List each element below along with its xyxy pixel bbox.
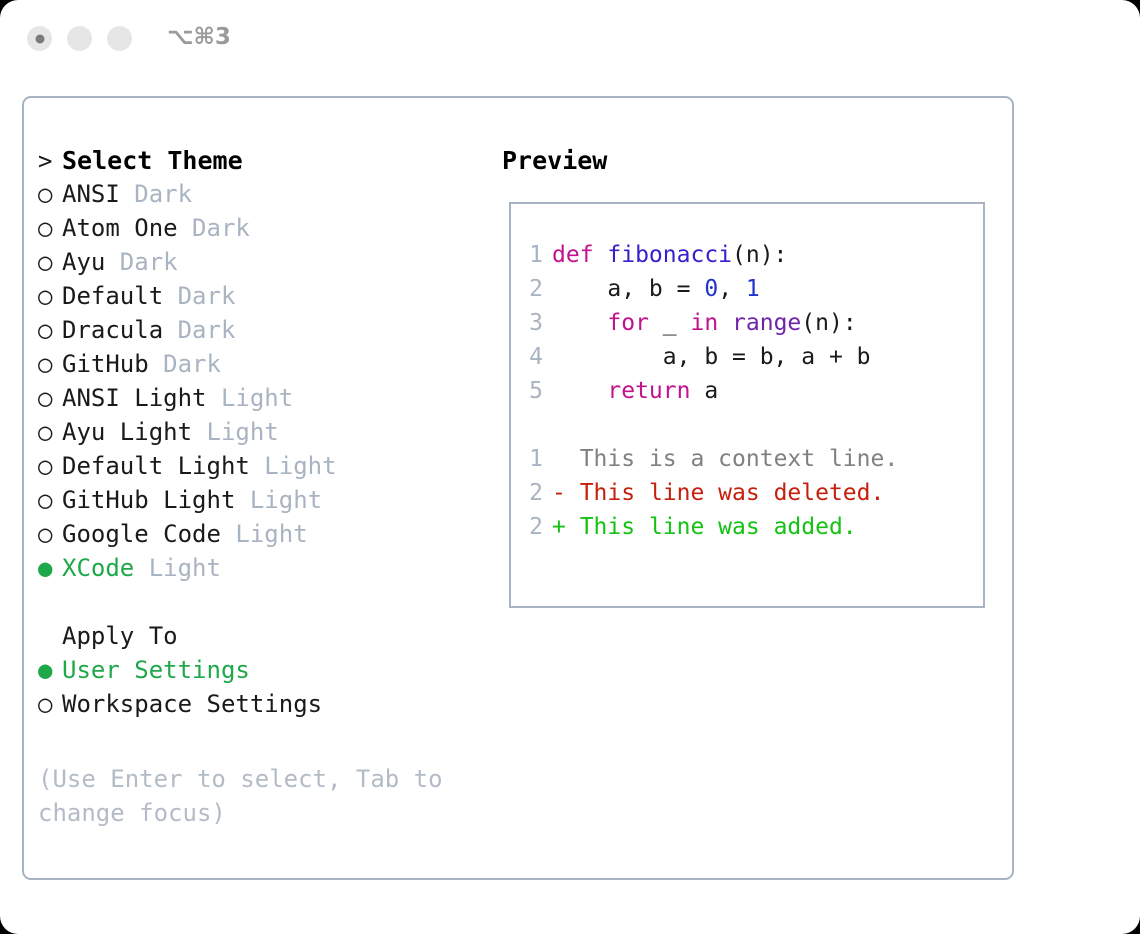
code-token: a <box>690 378 718 404</box>
theme-name: GitHub <box>62 350 149 378</box>
code-token <box>552 378 607 404</box>
theme-name: Google Code <box>62 520 221 548</box>
theme-variant-tag: Light <box>221 520 308 548</box>
diff-text: This line was deleted. <box>566 480 885 506</box>
theme-name: ANSI Light <box>62 384 207 412</box>
heading-prompt-icon: > <box>38 147 62 175</box>
diff-sign: + <box>552 514 566 540</box>
section-spacer <box>38 588 488 622</box>
theme-list-item[interactable]: ○Google Code Light <box>38 520 488 554</box>
theme-name: Default Light <box>62 452 250 480</box>
diff-sample: 1 This is a context line.2- This line wa… <box>517 446 979 548</box>
code-diff-spacer <box>517 412 979 446</box>
diff-sign <box>552 446 566 472</box>
code-token: in <box>690 310 718 336</box>
theme-list: ○ANSI Dark○Atom One Dark○Ayu Dark○Defaul… <box>38 180 488 588</box>
diff-line: 2+ This line was added. <box>517 514 979 548</box>
code-token: (n): <box>801 310 856 336</box>
code-token <box>552 310 607 336</box>
radio-unselected-icon: ○ <box>38 248 62 276</box>
code-token: 0 <box>704 276 718 302</box>
apply-to-heading: ○Apply To <box>38 622 488 656</box>
code-token: , <box>718 276 746 302</box>
diff-line: 2- This line was deleted. <box>517 480 979 514</box>
zoom-button[interactable] <box>107 26 132 51</box>
code-sample: 1def fibonacci(n):2 a, b = 0, 13 for _ i… <box>517 242 979 412</box>
main-panel: >Select Theme ○ANSI Dark○Atom One Dark○A… <box>22 96 1014 880</box>
radio-unselected-icon: ○ <box>38 350 62 378</box>
theme-list-item[interactable]: ○Atom One Dark <box>38 214 488 248</box>
select-theme-heading: >Select Theme <box>38 146 488 180</box>
radio-unselected-icon: ○ <box>38 690 62 718</box>
minimize-button[interactable] <box>67 26 92 51</box>
select-theme-heading-label: Select Theme <box>62 146 243 175</box>
radio-selected-icon: ● <box>38 554 62 582</box>
line-number: 2 <box>517 480 543 506</box>
line-number: 5 <box>517 378 543 404</box>
close-dot-icon <box>35 34 44 43</box>
keyboard-shortcut-label: ⌥⌘3 <box>167 24 231 50</box>
close-button[interactable] <box>27 26 52 51</box>
radio-unselected-icon: ○ <box>38 180 62 208</box>
radio-unselected-icon: ○ <box>38 384 62 412</box>
code-token: a, b = <box>552 276 704 302</box>
theme-variant-tag: Light <box>207 384 294 412</box>
theme-selector: >Select Theme ○ANSI Dark○Atom One Dark○A… <box>38 146 488 724</box>
theme-list-item[interactable]: ○GitHub Dark <box>38 350 488 384</box>
theme-variant-tag: Light <box>235 486 322 514</box>
code-token: return <box>607 378 690 404</box>
line-number: 2 <box>517 276 543 302</box>
code-token: fibonacci <box>607 242 732 268</box>
code-token: def <box>552 242 607 268</box>
radio-unselected-icon: ○ <box>38 316 62 344</box>
theme-name: Dracula <box>62 316 163 344</box>
code-preview-box: 1def fibonacci(n):2 a, b = 0, 13 for _ i… <box>509 202 985 608</box>
theme-variant-tag: Light <box>250 452 337 480</box>
theme-name: XCode <box>62 554 134 582</box>
code-line: 3 for _ in range(n): <box>517 310 979 344</box>
apply-to-label: Workspace Settings <box>62 690 322 718</box>
theme-name: Default <box>62 282 163 310</box>
theme-list-item[interactable]: ○ANSI Dark <box>38 180 488 214</box>
theme-list-item[interactable]: ○Default Light Light <box>38 452 488 486</box>
radio-unselected-icon: ○ <box>38 282 62 310</box>
code-token: (n): <box>732 242 787 268</box>
code-line: 2 a, b = 0, 1 <box>517 276 979 310</box>
theme-variant-tag: Dark <box>105 248 177 276</box>
theme-name: Ayu Light <box>62 418 192 446</box>
diff-sign: - <box>552 480 566 506</box>
theme-variant-tag: Dark <box>163 282 235 310</box>
title-bar: ⌥⌘3 <box>0 0 1140 76</box>
keyboard-hint: (Use Enter to select, Tab to change focu… <box>38 762 458 830</box>
radio-unselected-icon: ○ <box>38 486 62 514</box>
line-number: 1 <box>517 242 543 268</box>
theme-name: ANSI <box>62 180 120 208</box>
apply-to-label: User Settings <box>62 656 250 684</box>
theme-list-item[interactable]: ○ANSI Light Light <box>38 384 488 418</box>
theme-list-item[interactable]: ●XCode Light <box>38 554 488 588</box>
theme-list-item[interactable]: ○Dracula Dark <box>38 316 488 350</box>
theme-variant-tag: Dark <box>149 350 221 378</box>
theme-variant-tag: Dark <box>178 214 250 242</box>
code-preview-content: 1def fibonacci(n):2 a, b = 0, 13 for _ i… <box>517 242 979 548</box>
theme-list-item[interactable]: ○Ayu Light Light <box>38 418 488 452</box>
code-token: range <box>732 310 801 336</box>
line-number: 1 <box>517 446 543 472</box>
line-number: 2 <box>517 514 543 540</box>
theme-name: GitHub Light <box>62 486 235 514</box>
line-number: 4 <box>517 344 543 370</box>
diff-line: 1 This is a context line. <box>517 446 979 480</box>
radio-selected-icon: ● <box>38 656 62 684</box>
code-token: for <box>607 310 649 336</box>
radio-unselected-icon: ○ <box>38 452 62 480</box>
code-token: 1 <box>746 276 760 302</box>
theme-variant-tag: Light <box>192 418 279 446</box>
radio-unselected-icon: ○ <box>38 214 62 242</box>
theme-name: Ayu <box>62 248 105 276</box>
apply-to-list: ●User Settings○Workspace Settings <box>38 656 488 724</box>
app-window: ⌥⌘3 >Select Theme ○ANSI Dark○Atom One Da… <box>0 0 1140 934</box>
radio-unselected-icon: ○ <box>38 418 62 446</box>
theme-list-item[interactable]: ○GitHub Light Light <box>38 486 488 520</box>
apply-to-marker-spacer: ○ <box>38 622 62 650</box>
code-line: 5 return a <box>517 378 979 412</box>
line-number: 3 <box>517 310 543 336</box>
code-token: a, b = b, a + b <box>552 344 871 370</box>
theme-variant-tag: Dark <box>120 180 192 208</box>
code-line: 4 a, b = b, a + b <box>517 344 979 378</box>
diff-text: This line was added. <box>566 514 857 540</box>
theme-name: Atom One <box>62 214 178 242</box>
theme-list-item[interactable]: ○Ayu Dark <box>38 248 488 282</box>
code-token <box>718 310 732 336</box>
code-token: _ <box>649 310 691 336</box>
theme-variant-tag: Dark <box>163 316 235 344</box>
apply-to-item[interactable]: ○Workspace Settings <box>38 690 488 724</box>
apply-to-heading-label: Apply To <box>62 622 178 650</box>
theme-list-item[interactable]: ○Default Dark <box>38 282 488 316</box>
radio-unselected-icon: ○ <box>38 520 62 548</box>
code-line: 1def fibonacci(n): <box>517 242 979 276</box>
theme-variant-tag: Light <box>134 554 221 582</box>
diff-text: This is a context line. <box>566 446 898 472</box>
preview-title: Preview <box>502 146 607 175</box>
apply-to-item[interactable]: ●User Settings <box>38 656 488 690</box>
